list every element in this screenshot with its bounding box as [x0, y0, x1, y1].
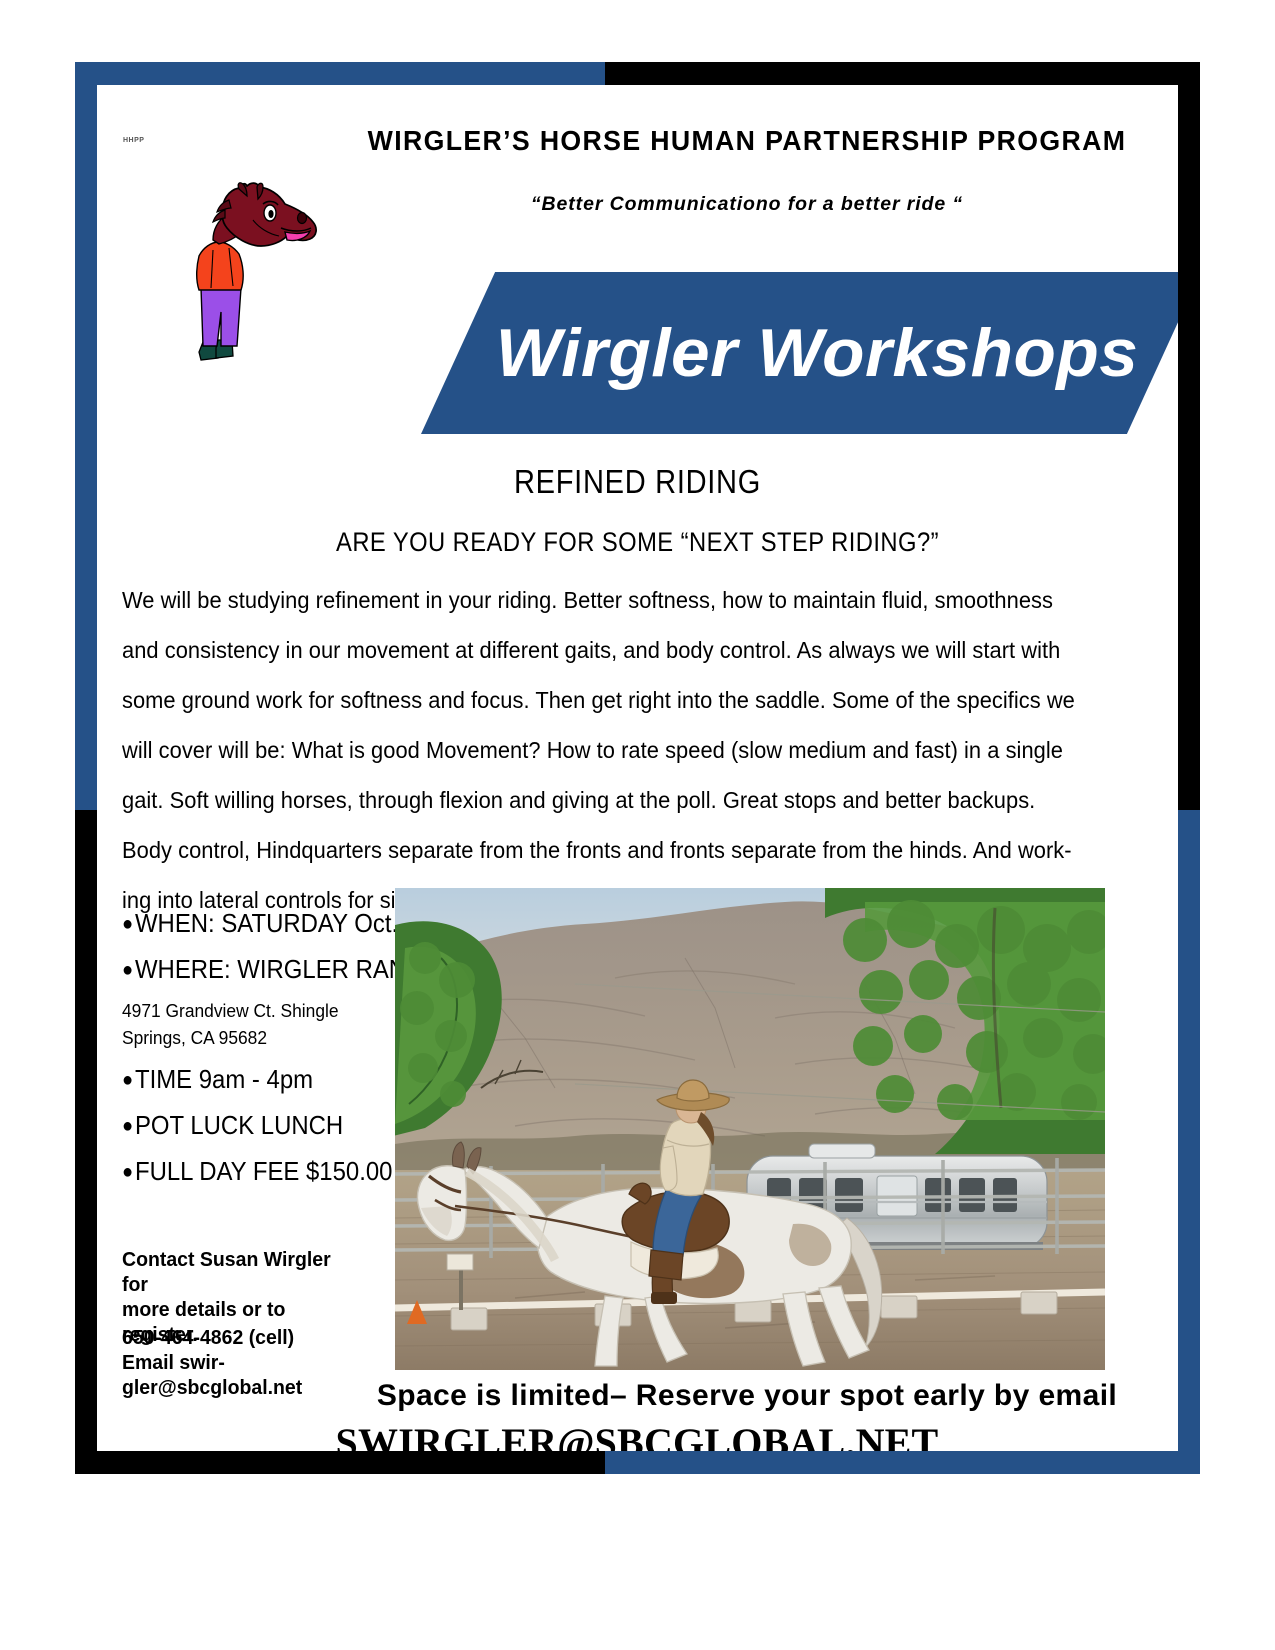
bullet-icon: ●	[122, 908, 133, 940]
flyer-content: HHPP WIRGLER’S HORSE HUMAN PARTNERSHIP P…	[97, 85, 1178, 1451]
detail-time: ●TIME 9am - 4pm	[122, 1063, 363, 1096]
contact-phone-email: 650-464-4862 (cell) Email swir- gler@sbc…	[122, 1325, 360, 1400]
border-left-blue	[75, 85, 97, 810]
footer-email[interactable]: SWIRGLER@SBCGLOBAL.NET	[327, 1417, 947, 1451]
bullet-icon: ●	[122, 1110, 133, 1142]
detail-lunch: ●POT LUCK LUNCH	[122, 1109, 363, 1142]
photo-arena-rider	[395, 888, 1105, 1370]
flyer-frame: HHPP WIRGLER’S HORSE HUMAN PARTNERSHIP P…	[75, 62, 1200, 1474]
detail-when: ●WHEN: SATURDAY Oct. 23	[122, 907, 363, 940]
event-details-list: ●WHEN: SATURDAY Oct. 23 ●WHERE: WIRGLER …	[122, 907, 384, 1201]
cartoon-horse-person-icon	[177, 180, 327, 370]
bullet-icon: ●	[122, 954, 133, 986]
detail-fee: ●FULL DAY FEE $150.00	[122, 1155, 363, 1188]
detail-address: 4971 Grandview Ct. Shingle Springs, CA 9…	[122, 997, 378, 1051]
detail-time-label: TIME 9am - 4pm	[135, 1064, 313, 1094]
workshop-banner: Wirgler Workshops	[421, 272, 1178, 434]
call-to-action: Space is limited– Reserve your spot earl…	[327, 1379, 1167, 1413]
contact-line-1: Contact Susan Wirgler for	[122, 1247, 360, 1297]
corner-mark: HHPP	[123, 137, 144, 144]
tagline: “Better Communicationo for a better ride…	[327, 193, 1167, 216]
body-paragraph: We will be studying refinement in your r…	[122, 575, 1080, 925]
detail-fee-label: FULL DAY FEE $150.00	[135, 1156, 393, 1186]
banner-title: Wirgler Workshops	[496, 314, 1139, 392]
bullet-icon: ●	[122, 1156, 133, 1188]
contact-email-line-2[interactable]: gler@sbcglobal.net	[122, 1375, 360, 1400]
border-bottom-black	[75, 1451, 605, 1474]
border-top-black	[605, 62, 1200, 85]
border-left-black	[75, 810, 97, 1451]
page-title: WIRGLER’S HORSE HUMAN PARTNERSHIP PROGRA…	[340, 125, 1155, 157]
border-right-black	[1178, 85, 1200, 810]
detail-where: ●WHERE: WIRGLER RANCH	[122, 953, 363, 986]
contact-phone-number[interactable]: 650-464-4862 (cell)	[122, 1325, 360, 1350]
detail-when-label: WHEN: SATURDAY Oct. 23	[135, 908, 431, 938]
bullet-icon: ●	[122, 1064, 133, 1096]
detail-lunch-label: POT LUCK LUNCH	[135, 1110, 343, 1140]
border-top-blue	[75, 62, 605, 85]
flyer-page: HHPP WIRGLER’S HORSE HUMAN PARTNERSHIP P…	[0, 0, 1275, 1650]
workshop-name: REFINED RIDING	[162, 463, 1113, 501]
border-bottom-blue	[605, 1451, 1200, 1474]
workshop-question: ARE YOU READY FOR SOME “NEXT STEP RIDING…	[162, 527, 1113, 558]
border-right-blue	[1178, 810, 1200, 1451]
contact-email-line-1[interactable]: Email swir-	[122, 1350, 360, 1375]
